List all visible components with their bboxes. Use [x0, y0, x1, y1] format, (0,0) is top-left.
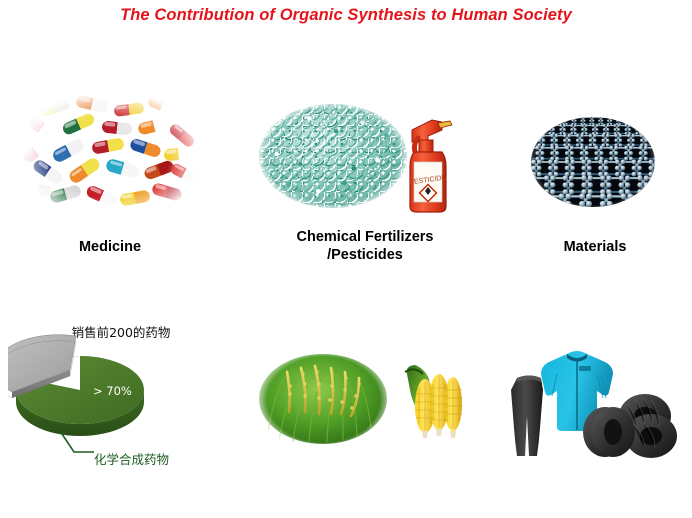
caption-fertilizers: Chemical Fertilizers /Pesticides: [265, 228, 465, 264]
pesticide-spray-bottle-image: PESTICIDE: [398, 112, 458, 216]
granule-pile: [259, 104, 407, 208]
sportswear-and-tires-image: [505, 344, 680, 464]
leggings-graphic: [511, 376, 543, 457]
pie-data-label-synthetic: > 70%: [93, 384, 132, 398]
fertilizer-granules-image: [259, 104, 407, 208]
caption-medicine: Medicine: [30, 238, 190, 256]
page-title: The Contribution of Organic Synthesis to…: [0, 6, 692, 25]
tires-graphic: [583, 394, 677, 458]
pie-callout-label: 化学合成药物: [94, 449, 169, 468]
corn-cobs-image: [403, 358, 463, 446]
caption-materials: Materials: [525, 238, 665, 256]
caption-fertilizers-line1: Chemical Fertilizers: [265, 228, 465, 246]
rice-paddy-image: [257, 352, 390, 447]
medicine-pills-image: [18, 96, 203, 218]
caption-fertilizers-line2: /Pesticides: [265, 246, 465, 264]
graphene-lattice-image: [513, 100, 673, 218]
pie-chart: 销售前200的药物: [8, 322, 223, 482]
